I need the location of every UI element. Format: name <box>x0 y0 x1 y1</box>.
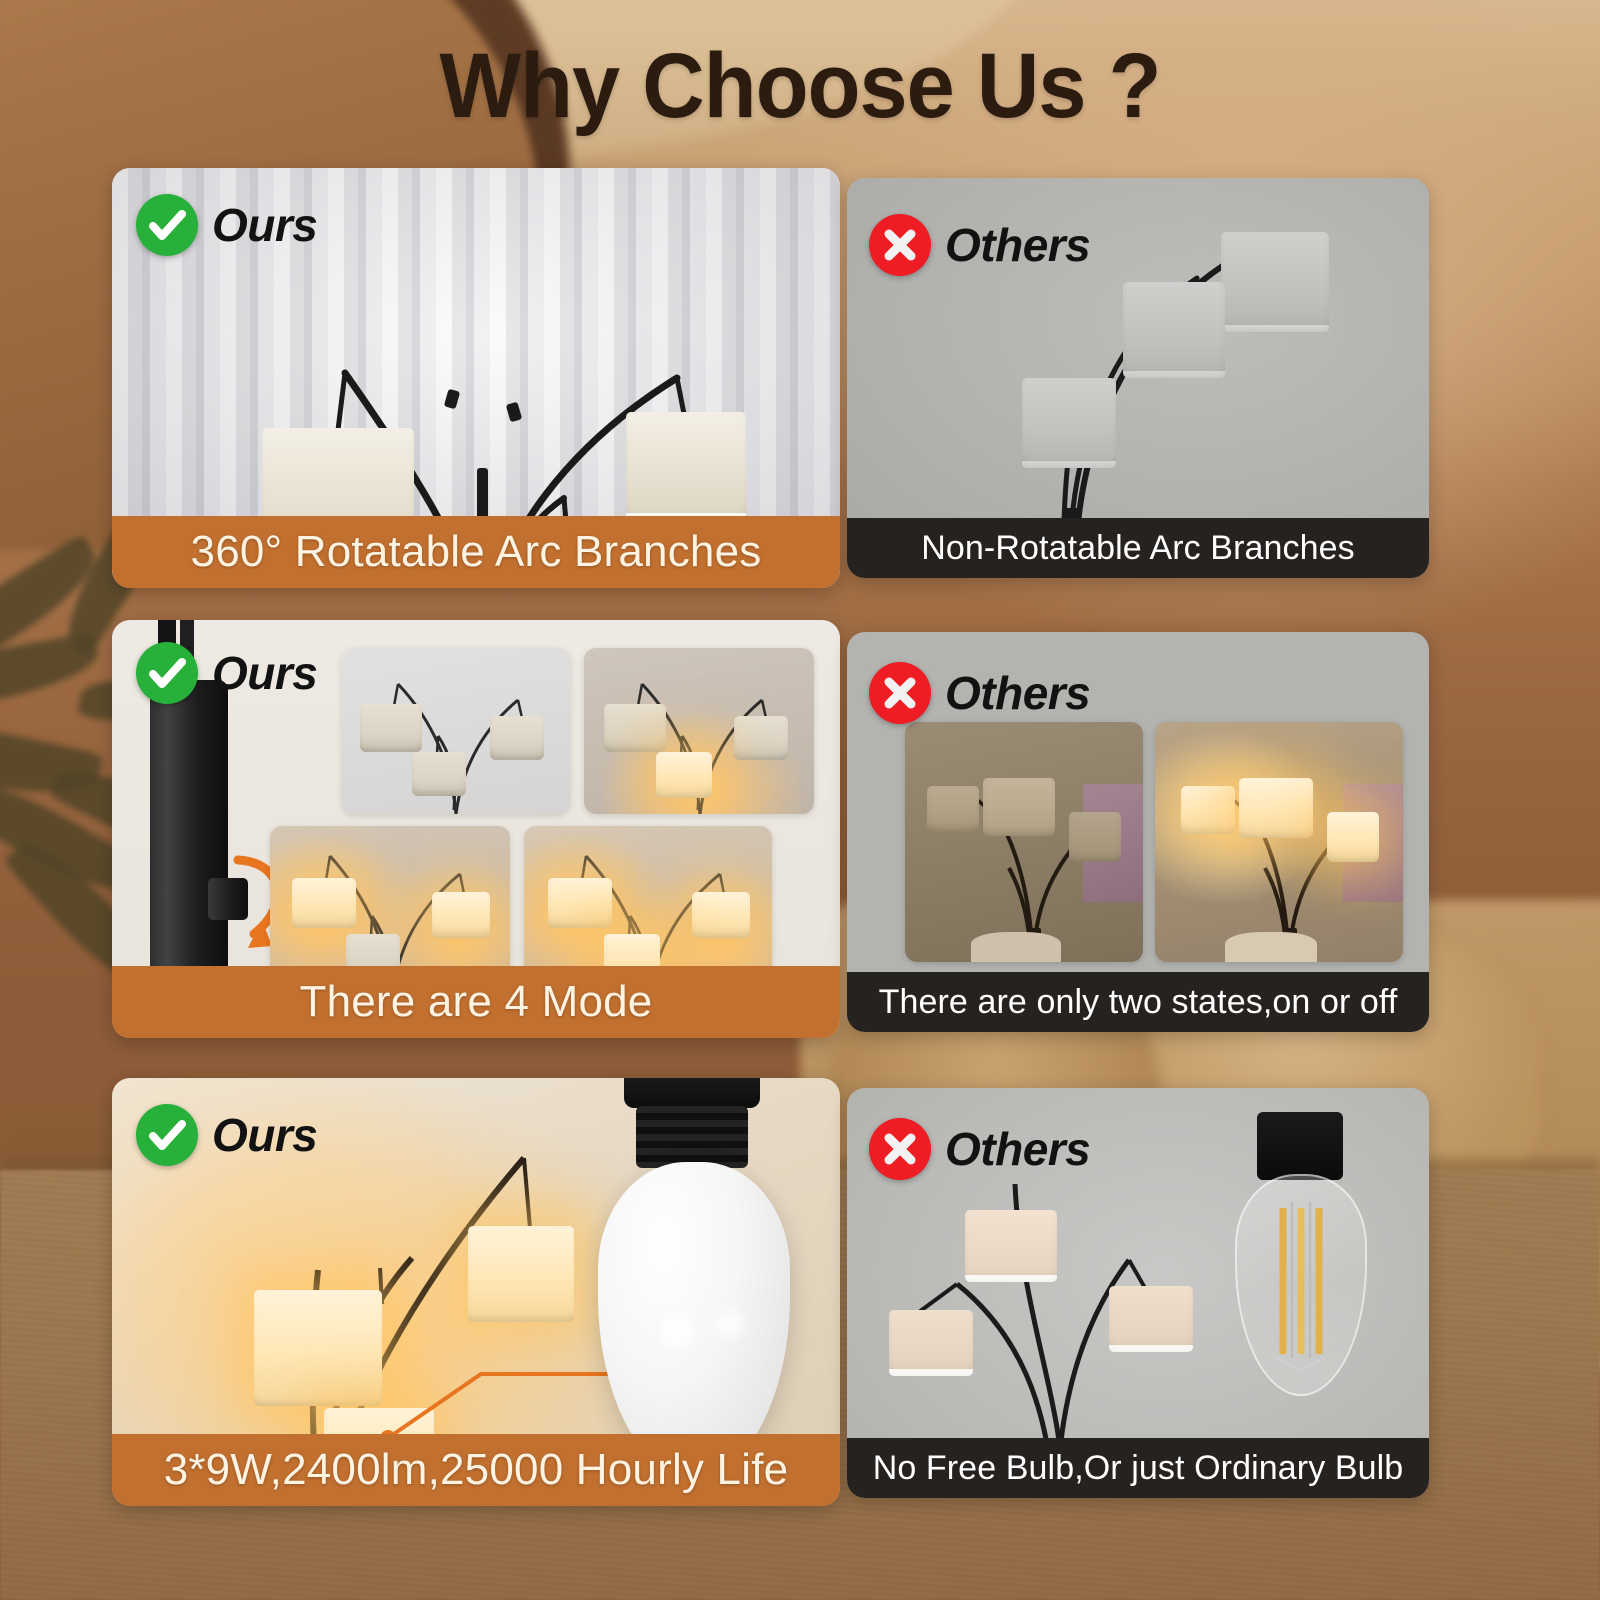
state-photo-off <box>905 722 1143 962</box>
mode-thumbnail-2 <box>584 648 814 814</box>
ours-caption-3: 3*9W,2400lm,25000 Hourly Life <box>112 1434 840 1506</box>
comparison-card-others-non-rotatable: Others Non-Rotatable Arc Branches <box>847 178 1429 578</box>
ours-label-2: Ours <box>212 650 317 696</box>
comparison-card-ours-four-modes: Ours There are 4 Mode <box>112 620 840 1038</box>
bulb-cap-icon <box>1257 1112 1343 1180</box>
comparison-card-others-two-states: Others There are only two states,on or o… <box>847 632 1429 1032</box>
comparison-card-ours-led-bulb: Ours 3*9W,2400lm,25000 Hourly Life <box>112 1078 840 1506</box>
check-circle-icon <box>136 642 198 704</box>
ours-badge-row-1: Ours <box>136 194 317 256</box>
others-caption-1: Non-Rotatable Arc Branches <box>847 518 1429 578</box>
x-circle-icon <box>869 1118 931 1180</box>
x-circle-icon <box>869 214 931 276</box>
others-label-2: Others <box>945 670 1090 716</box>
ours-label-1: Ours <box>212 202 317 248</box>
ours-label-3: Ours <box>212 1112 317 1158</box>
others-badge-row-3: Others <box>869 1118 1090 1180</box>
ours-caption-2: There are 4 Mode <box>112 966 840 1038</box>
check-circle-icon <box>136 194 198 256</box>
comparison-grid: Ours 360° Rotatable Arc Branches <box>0 0 1600 1600</box>
others-caption-3: No Free Bulb,Or just Ordinary Bulb <box>847 1438 1429 1498</box>
comparison-card-others-ordinary-bulb: Others No Free Bulb,Or just Ordinary Bul… <box>847 1088 1429 1498</box>
check-circle-icon <box>136 1104 198 1166</box>
ours-badge-row-2: Ours <box>136 642 317 704</box>
others-caption-2: There are only two states,on or off <box>847 972 1429 1032</box>
filament-icon <box>1235 1174 1367 1396</box>
bulb-cap-icon <box>624 1078 760 1108</box>
others-label-1: Others <box>945 222 1090 268</box>
mode-thumbnail-1 <box>342 648 570 814</box>
ours-badge-row-3: Ours <box>136 1104 317 1166</box>
others-badge-row-1: Others <box>869 214 1090 276</box>
ours-caption-1: 360° Rotatable Arc Branches <box>112 516 840 588</box>
page-title: Why Choose Us ? <box>48 34 1552 139</box>
bulb-screw-base-icon <box>636 1106 748 1168</box>
x-circle-icon <box>869 662 931 724</box>
state-photo-on <box>1155 722 1403 962</box>
comparison-card-ours-rotatable: Ours 360° Rotatable Arc Branches <box>112 168 840 588</box>
others-label-3: Others <box>945 1126 1090 1172</box>
others-badge-row-2: Others <box>869 662 1090 724</box>
